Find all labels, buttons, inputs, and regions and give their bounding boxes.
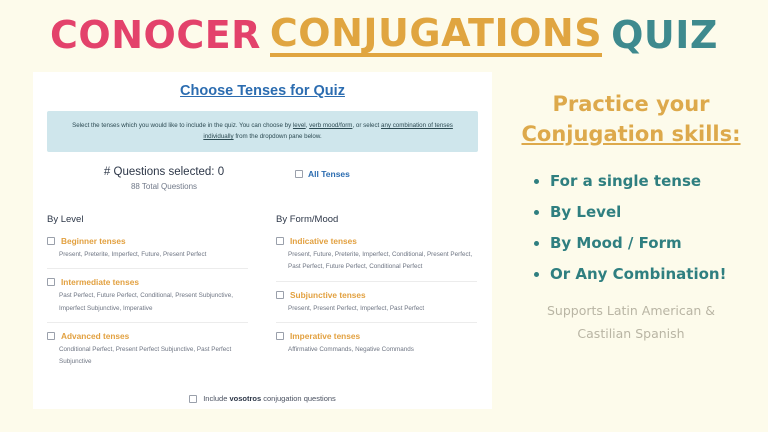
- group-title-imperative-tenses: Imperative tenses: [290, 331, 360, 341]
- list-item: By Mood / Form: [534, 234, 762, 252]
- checkbox-icon-imperative-tenses[interactable]: [276, 332, 284, 340]
- info-text-segment-4: from the dropdown pane below.: [234, 133, 322, 140]
- sidebar-heading-line-1: Practice your: [500, 90, 762, 120]
- checkbox-icon-all-tenses[interactable]: [295, 170, 303, 178]
- group-subtext-beginner-tenses: Present, Preterite, Imperfect, Future, P…: [59, 249, 248, 261]
- checkbox-icon-indicative-tenses[interactable]: [276, 237, 284, 245]
- title-word-conjugations: Conjugations: [270, 14, 602, 57]
- group-subtext-intermediate-tenses: Past Perfect, Future Perfect, Conditiona…: [59, 290, 248, 315]
- list-item: By Level: [534, 203, 762, 221]
- all-tenses-label: All Tenses: [308, 169, 350, 179]
- marketing-sidebar: Practice your Conjugation skills: For a …: [500, 90, 762, 345]
- support-note-line-1: Supports Latin American &: [500, 299, 762, 322]
- vosotros-checkbox-row[interactable]: Include vosotros conjugation questions: [33, 394, 492, 403]
- column-header-by-form-mood: By Form/Mood: [276, 214, 477, 225]
- group-header[interactable]: Intermediate tenses: [47, 277, 248, 287]
- questions-selected-label: # Questions selected: 0: [33, 166, 295, 178]
- page-title: Choose Tenses for Quiz: [33, 83, 492, 99]
- vosotros-text-bold: vosotros: [229, 394, 261, 403]
- group-imperative-tenses[interactable]: Imperative tenses Affirmative Commands, …: [276, 331, 477, 363]
- info-banner: Select the tenses which you would like t…: [47, 111, 478, 152]
- group-subtext-advanced-tenses: Conditional Perfect, Present Perfect Sub…: [59, 344, 248, 369]
- title-word-conocer: Conocer: [50, 16, 261, 54]
- questions-count-block: # Questions selected: 0 88 Total Questio…: [33, 166, 295, 191]
- checkbox-icon-advanced-tenses[interactable]: [47, 332, 55, 340]
- list-item: Or Any Combination!: [534, 265, 762, 283]
- checkbox-icon-beginner-tenses[interactable]: [47, 237, 55, 245]
- checkbox-icon-subjunctive-tenses[interactable]: [276, 291, 284, 299]
- tense-columns: By Level Beginner tenses Present, Preter…: [33, 214, 492, 383]
- group-title-intermediate-tenses: Intermediate tenses: [61, 277, 139, 287]
- group-title-subjunctive-tenses: Subjunctive tenses: [290, 290, 366, 300]
- info-link-verb-mood-form[interactable]: verb mood/form: [309, 122, 352, 129]
- group-header[interactable]: Subjunctive tenses: [276, 290, 477, 300]
- info-text-segment-1: Select the tenses which you would like t…: [72, 122, 293, 129]
- sidebar-heading-line-2: Conjugation skills:: [500, 120, 762, 150]
- column-by-form-mood: By Form/Mood Indicative tenses Present, …: [262, 214, 491, 383]
- info-link-level[interactable]: level: [293, 122, 306, 129]
- group-subtext-subjunctive-tenses: Present, Present Perfect, Imperfect, Pas…: [288, 303, 477, 315]
- all-tenses-checkbox-row[interactable]: All Tenses: [295, 169, 350, 179]
- group-subjunctive-tenses[interactable]: Subjunctive tenses Present, Present Perf…: [276, 290, 477, 323]
- group-title-indicative-tenses: Indicative tenses: [290, 236, 357, 246]
- info-text-segment-3: , or select: [352, 122, 381, 129]
- vosotros-text-post: conjugation questions: [261, 394, 336, 403]
- column-by-level: By Level Beginner tenses Present, Preter…: [33, 214, 262, 383]
- group-indicative-tenses[interactable]: Indicative tenses Present, Future, Prete…: [276, 236, 477, 282]
- total-questions-label: 88 Total Questions: [33, 182, 295, 191]
- title-word-quiz: Quiz: [611, 16, 718, 54]
- quiz-settings-panel: Choose Tenses for Quiz Select the tenses…: [33, 72, 492, 409]
- group-header[interactable]: Imperative tenses: [276, 331, 477, 341]
- group-subtext-imperative-tenses: Affirmative Commands, Negative Commands: [288, 344, 477, 356]
- group-header[interactable]: Indicative tenses: [276, 236, 477, 246]
- vosotros-text-pre: Include: [203, 394, 229, 403]
- page-banner: Conocer Conjugations Quiz: [0, 0, 768, 70]
- list-item: For a single tense: [534, 172, 762, 190]
- group-advanced-tenses[interactable]: Advanced tenses Conditional Perfect, Pre…: [47, 331, 248, 376]
- counts-row: # Questions selected: 0 88 Total Questio…: [33, 166, 492, 191]
- group-header[interactable]: Advanced tenses: [47, 331, 248, 341]
- group-intermediate-tenses[interactable]: Intermediate tenses Past Perfect, Future…: [47, 277, 248, 323]
- checkbox-icon-intermediate-tenses[interactable]: [47, 278, 55, 286]
- checkbox-icon-vosotros[interactable]: [189, 395, 197, 403]
- support-note: Supports Latin American & Castilian Span…: [500, 299, 762, 345]
- group-title-advanced-tenses: Advanced tenses: [61, 331, 129, 341]
- support-note-line-2: Castilian Spanish: [500, 322, 762, 345]
- column-header-by-level: By Level: [47, 214, 248, 225]
- group-header[interactable]: Beginner tenses: [47, 236, 248, 246]
- group-beginner-tenses[interactable]: Beginner tenses Present, Preterite, Impe…: [47, 236, 248, 269]
- feature-bullet-list: For a single tense By Level By Mood / Fo…: [500, 172, 762, 283]
- vosotros-label: Include vosotros conjugation questions: [203, 394, 336, 403]
- group-title-beginner-tenses: Beginner tenses: [61, 236, 126, 246]
- group-subtext-indicative-tenses: Present, Future, Preterite, Imperfect, C…: [288, 249, 477, 274]
